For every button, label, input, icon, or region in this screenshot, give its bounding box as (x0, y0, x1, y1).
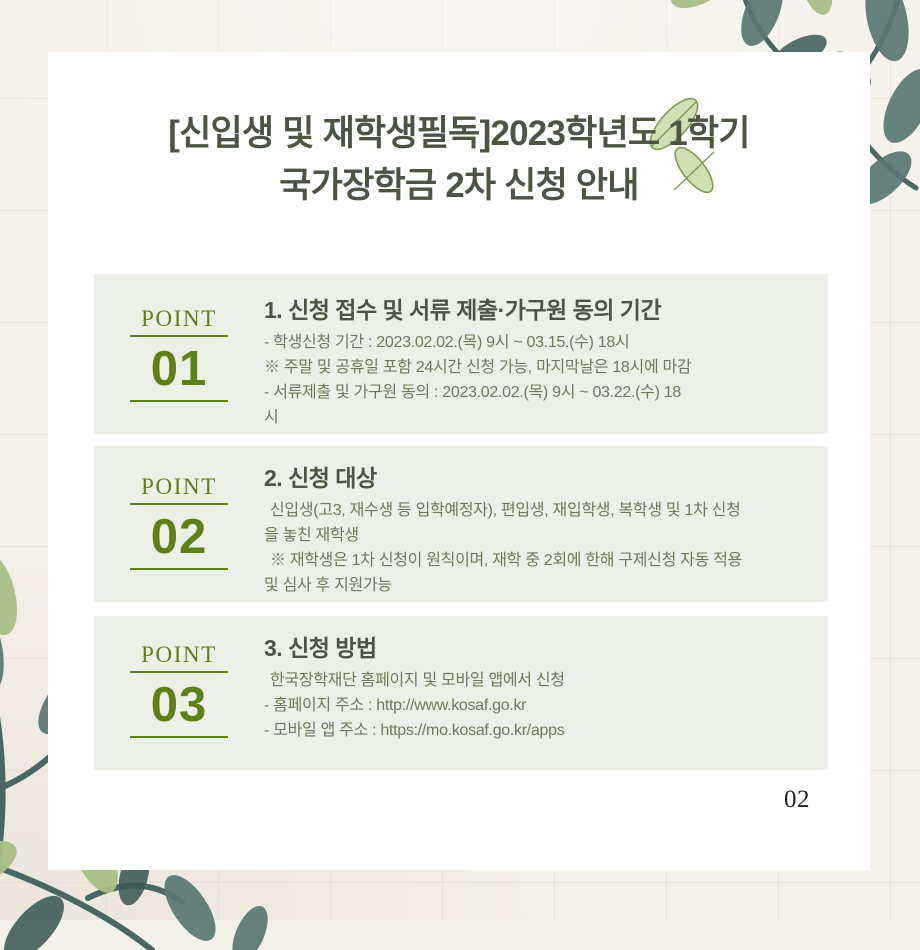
point-body-2: 2. 신청 대상 신입생(고3, 재수생 등 입학예정자), 편입생, 재입학생… (264, 446, 828, 598)
point-panel-2: POINT 02 2. 신청 대상 신입생(고3, 재수생 등 입학예정자), … (94, 446, 828, 602)
point-line: ※ 주말 및 공휴일 포함 24시간 신청 가능, 마지막날은 18시에 마감 (264, 355, 814, 380)
point-heading: 2. 신청 대상 (264, 462, 814, 494)
point-line: ※ 재학생은 1차 신청이 원칙이며, 재학 중 2회에 한해 구제신청 자동 … (264, 548, 814, 573)
page-title: [신입생 및 재학생필독]2023학년도 1학기 국가장학금 2차 신청 안내 (48, 108, 870, 212)
point-body-3: 3. 신청 방법 한국장학재단 홈페이지 및 모바일 앱에서 신청 - 홈페이지… (264, 616, 828, 743)
point-panel-3: POINT 03 3. 신청 방법 한국장학재단 홈페이지 및 모바일 앱에서 … (94, 616, 828, 770)
mobile-app-url-line: - 모바일 앱 주소 : https://mo.kosaf.go.kr/apps (264, 718, 814, 743)
point-line: 신입생(고3, 재수생 등 입학예정자), 편입생, 재입학생, 복학생 및 1… (264, 498, 814, 523)
point-rule-bottom (130, 400, 228, 402)
point-line: - 학생신청 기간 : 2023.02.02.(목) 9시 ~ 03.15.(수… (264, 330, 814, 355)
point-label: POINT (141, 474, 217, 503)
point-badge-1: POINT 01 (94, 274, 264, 402)
title-line-1: [신입생 및 재학생필독]2023학년도 1학기 (48, 108, 870, 160)
point-number: 03 (151, 673, 208, 736)
homepage-url-line: - 홈페이지 주소 : http://www.kosaf.go.kr (264, 693, 814, 718)
point-rule-bottom (130, 736, 228, 738)
content-card: [신입생 및 재학생필독]2023학년도 1학기 국가장학금 2차 신청 안내 … (48, 52, 870, 870)
point-body-1: 1. 신청 접수 및 서류 제출·가구원 동의 기간 - 학생신청 기간 : 2… (264, 274, 828, 430)
page-number: 02 (784, 786, 810, 814)
point-number: 01 (151, 337, 208, 400)
title-line-2: 국가장학금 2차 신청 안내 (48, 160, 870, 212)
point-line: - 서류제출 및 가구원 동의 : 2023.02.02.(목) 9시 ~ 03… (264, 380, 814, 405)
point-label: POINT (141, 306, 217, 335)
point-number: 02 (151, 505, 208, 568)
point-panel-1: POINT 01 1. 신청 접수 및 서류 제출·가구원 동의 기간 - 학생… (94, 274, 828, 434)
point-label: POINT (141, 642, 217, 671)
point-line: 을 놓친 재학생 (264, 523, 814, 548)
point-line: 한국장학재단 홈페이지 및 모바일 앱에서 신청 (264, 668, 814, 693)
point-rule-bottom (130, 568, 228, 570)
point-heading: 1. 신청 접수 및 서류 제출·가구원 동의 기간 (264, 294, 814, 326)
point-badge-2: POINT 02 (94, 446, 264, 570)
point-badge-3: POINT 03 (94, 616, 264, 738)
point-line: 시 (264, 405, 814, 430)
point-line: 및 심사 후 지원가능 (264, 573, 814, 598)
point-heading: 3. 신청 방법 (264, 632, 814, 664)
